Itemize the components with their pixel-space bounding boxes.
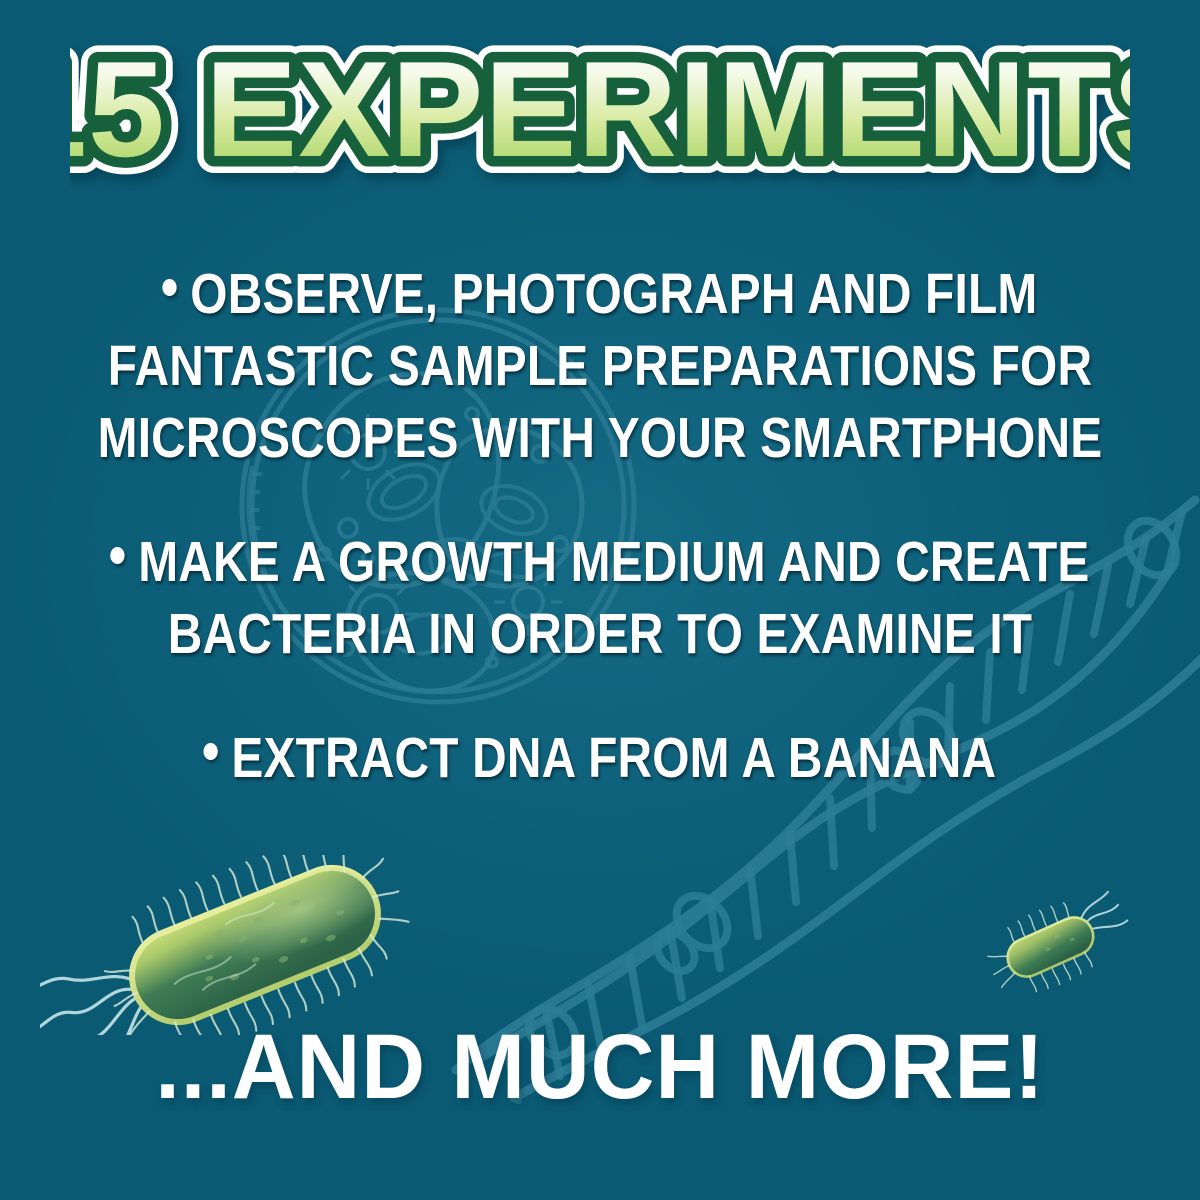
- bacterium-rod-icon: [975, 890, 1135, 1000]
- bacterium-large: [40, 855, 470, 1035]
- feature-line: MICROSCOPES WITH YOUR SMARTPHONE: [96, 402, 1104, 474]
- feature-line: OBSERVE, PHOTOGRAPH AND FILM: [96, 258, 1104, 330]
- feature-bullet-3: EXTRACT DNA FROM A BANANA: [0, 722, 1200, 794]
- bacterium-small: [975, 890, 1135, 1000]
- feature-list: OBSERVE, PHOTOGRAPH AND FILM FANTASTIC S…: [0, 258, 1200, 794]
- feature-line: EXTRACT DNA FROM A BANANA: [96, 722, 1104, 794]
- bullet-dot-icon: [111, 547, 125, 564]
- feature-line-text: OBSERVE, PHOTOGRAPH AND FILM: [190, 262, 1037, 326]
- poster-tagline: ...AND MUCH MORE!: [0, 1016, 1200, 1126]
- poster-title: 15 EXPERIMENTS 15 EXPERIMENTS 15 EXPERIM…: [0, 44, 1200, 194]
- feature-line: MAKE A GROWTH MEDIUM AND CREATE: [96, 526, 1104, 598]
- feature-bullet-2: MAKE A GROWTH MEDIUM AND CREATE BACTERIA…: [0, 526, 1200, 670]
- feature-line: BACTERIA IN ORDER TO EXAMINE IT: [96, 598, 1104, 670]
- bacterium-rod-icon: [40, 855, 470, 1035]
- tagline-artwork: ...AND MUCH MORE!: [120, 1016, 1080, 1126]
- feature-line-text: EXTRACT DNA FROM A BANANA: [231, 726, 996, 790]
- poster-canvas: 15 EXPERIMENTS 15 EXPERIMENTS 15 EXPERIM…: [0, 0, 1200, 1200]
- tagline-text: ...AND MUCH MORE!: [155, 1016, 1044, 1118]
- feature-bullet-1: OBSERVE, PHOTOGRAPH AND FILM FANTASTIC S…: [0, 258, 1200, 474]
- title-text: 15 EXPERIMENTS: [70, 44, 1130, 186]
- title-artwork: 15 EXPERIMENTS 15 EXPERIMENTS 15 EXPERIM…: [70, 44, 1130, 194]
- bullet-dot-icon: [204, 743, 218, 760]
- bullet-dot-icon: [163, 279, 177, 296]
- feature-line-text: MAKE A GROWTH MEDIUM AND CREATE: [138, 530, 1089, 594]
- feature-line: FANTASTIC SAMPLE PREPARATIONS FOR: [96, 330, 1104, 402]
